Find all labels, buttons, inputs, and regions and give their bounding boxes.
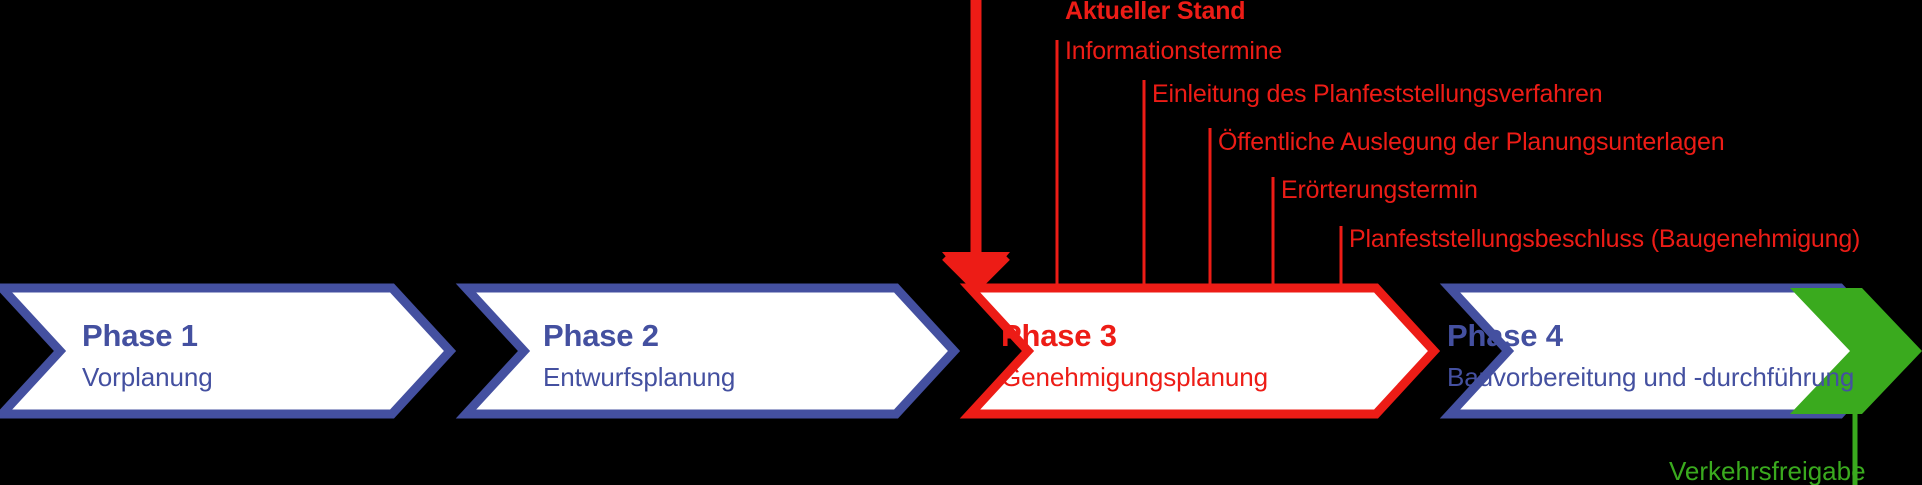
phase-1-title: Phase 1	[82, 320, 198, 351]
milestone-label-eroerterungstermin: Erörterungstermin	[1281, 178, 1478, 203]
milestone-label-planfeststellungsbeschluss: Planfeststellungsbeschluss (Baugenehmigu…	[1349, 227, 1860, 252]
phase-4-title: Phase 4	[1447, 320, 1563, 351]
phase-2-title: Phase 2	[543, 320, 659, 351]
project-phase-timeline: Aktueller Stand Informationstermine Einl…	[0, 0, 1922, 485]
phase-4-subtitle: Bauvorbereitung und -durchführung	[1447, 364, 1854, 390]
milestone-label-auslegung: Öffentliche Auslegung der Planungsunterl…	[1218, 130, 1724, 155]
milestone-tick-lines	[1057, 40, 1341, 288]
release-label: Verkehrsfreigabe	[1669, 458, 1866, 484]
phase-2-subtitle: Entwurfsplanung	[543, 364, 735, 390]
milestone-label-informationstermine: Informationstermine	[1065, 39, 1282, 64]
phase-chevron-1[interactable]	[2, 288, 458, 418]
current-status-arrow	[942, 0, 1010, 292]
phase-chevron-3[interactable]	[970, 288, 1442, 418]
phase-3-subtitle: Genehmigungsplanung	[1001, 364, 1268, 390]
phase-chevron-2[interactable]	[466, 288, 962, 418]
phase-1-subtitle: Vorplanung	[82, 364, 213, 390]
milestone-label-einleitung: Einleitung des Planfeststellungsverfahre…	[1152, 82, 1602, 107]
phase-2-body	[466, 288, 954, 414]
phase-3-title: Phase 3	[1001, 320, 1117, 351]
current-status-label: Aktueller Stand	[1065, 0, 1245, 24]
phase-1-body	[2, 288, 450, 414]
